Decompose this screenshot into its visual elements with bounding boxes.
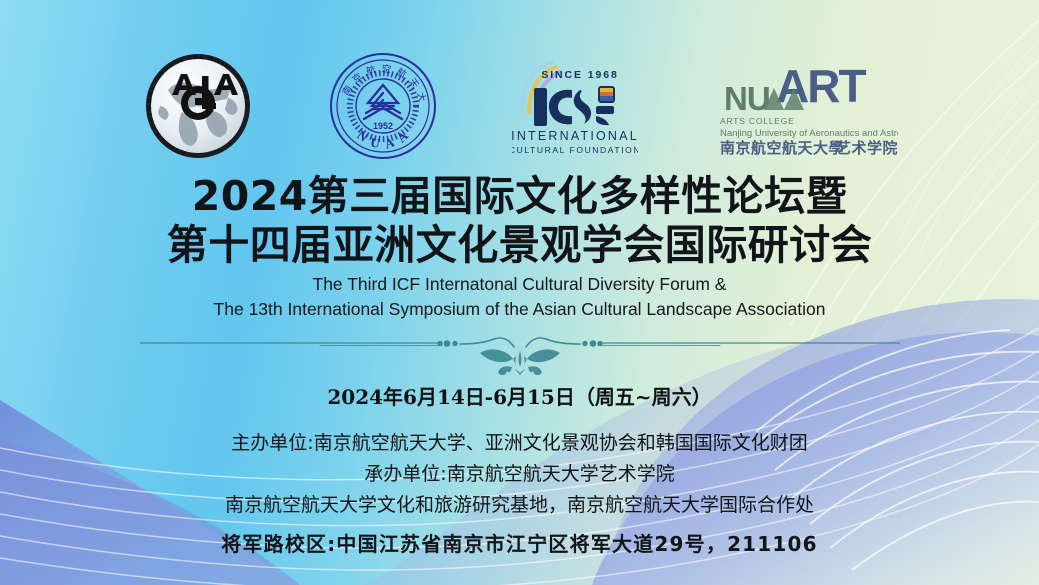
nuaart-line-2: Nanjing University of Aeronautics and As…	[720, 128, 898, 139]
nuaart-line-1: ARTS COLLEGE	[720, 116, 795, 126]
acla-logo: ASIAN CULTURAL LANDSCAPE ASSOCIATION	[142, 50, 254, 162]
page-title: 2024第三届国际文化多样性论坛暨 第十四届亚洲文化景观学会国际研讨会	[0, 172, 1039, 270]
page-subtitle: The Third ICF Internatonal Cultural Dive…	[0, 272, 1039, 322]
event-support: 南京航空航天大学文化和旅游研究基地，南京航空航天大学国际合作处	[0, 490, 1039, 521]
icf-line-1: INTERNATIONAL	[512, 129, 638, 143]
icf-line-2: CULTURAL FOUNDATION	[512, 145, 638, 155]
title-cn-line-2: 第十四届亚洲文化景观学会国际研讨会	[0, 221, 1039, 270]
title-en-line-1: The Third ICF Internatonal Cultural Dive…	[0, 272, 1039, 297]
nuaart-cn-line-2: 艺术学院	[836, 139, 898, 157]
icf-since-text: SINCE 1968	[541, 69, 618, 81]
conference-poster: ASIAN CULTURAL LANDSCAPE ASSOCIATION	[0, 0, 1039, 585]
nuaa-chevron-emblem	[364, 85, 402, 119]
nuaa-year: 1952	[372, 121, 392, 131]
nuaart-nu-mark: NU	[724, 80, 770, 117]
icf-flag-block	[598, 86, 615, 103]
event-organizer: 承办单位:南京航空航天大学艺术学院	[0, 459, 1039, 490]
event-info: 2024年6月14日-6月15日（周五~周六） 主办单位:南京航空航天大学、亚洲…	[0, 382, 1039, 560]
title-en-line-2: The 13th International Symposium of the …	[0, 297, 1039, 322]
divider-flourish	[480, 347, 560, 375]
nuaart-logo: NU ART ARTS COLLEGE Nanjing University o…	[712, 54, 898, 158]
icf-logo: SINCE 1968 INTERNATIONAL CULTUR	[512, 54, 638, 158]
logo-row: ASIAN CULTURAL LANDSCAPE ASSOCIATION	[0, 42, 1039, 170]
event-date: 2024年6月14日-6月15日（周五~周六）	[0, 382, 1039, 412]
event-address: 将军路校区:中国江苏省南京市江宁区将军大道29号，211106	[0, 529, 1039, 560]
ornamental-divider	[0, 331, 1039, 375]
nuaa-seal-logo: 1952 南京航空航天大学 NUAA	[328, 51, 438, 161]
nuaart-cn-line-1: 南京航空航天大學	[720, 139, 844, 157]
title-cn-line-1: 2024第三届国际文化多样性论坛暨	[0, 172, 1039, 221]
event-host: 主办单位:南京航空航天大学、亚洲文化景观协会和韩国国际文化财团	[0, 428, 1039, 459]
